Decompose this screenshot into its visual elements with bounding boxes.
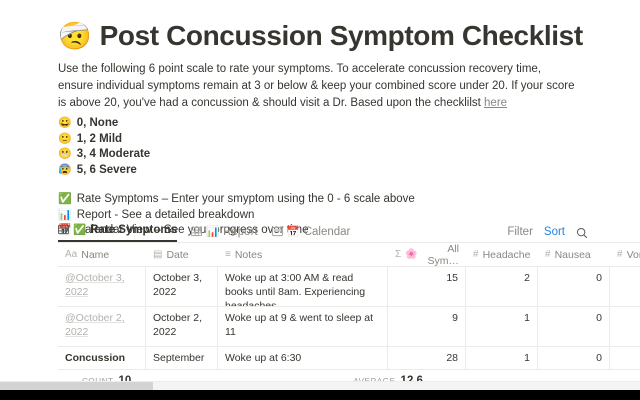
- intro-paragraph: Use the following 6 point scale to rate …: [58, 61, 618, 112]
- cell-headache[interactable]: 1: [466, 347, 538, 370]
- scale-item: 🙂 1, 2 Mild: [58, 132, 640, 148]
- column-header-vomiting[interactable]: # Vomi: [610, 243, 640, 267]
- cell-nausea[interactable]: 0: [538, 267, 610, 307]
- column-header-label: Name: [81, 249, 109, 261]
- cell-nausea[interactable]: 0: [538, 347, 610, 370]
- text-type-icon: ≡: [225, 249, 231, 260]
- search-icon[interactable]: [576, 226, 588, 238]
- cell-vomiting[interactable]: [610, 267, 640, 307]
- number-type-icon: #: [473, 249, 479, 260]
- scale-item: 😰 5, 6 Severe: [58, 163, 640, 179]
- database-toolbar: ✅ Rate Symptoms 📊 Report 📅 Calendar: [58, 218, 640, 242]
- cell-notes[interactable]: Woke up at 6:30: [218, 347, 388, 370]
- rollup-sigma-icon: Σ: [395, 249, 401, 260]
- horizontal-scrollbar[interactable]: [0, 381, 640, 390]
- filter-button[interactable]: Filter: [507, 226, 533, 238]
- column-header-all-symptoms[interactable]: Σ 🌸 All Sym…: [388, 243, 466, 267]
- cell-all-symptoms[interactable]: 28: [388, 347, 466, 370]
- column-header-notes[interactable]: ≡ Notes: [218, 243, 388, 267]
- window-bottom-bar: [0, 390, 640, 400]
- number-type-icon: #: [617, 249, 623, 260]
- cell-headache[interactable]: 1: [466, 307, 538, 347]
- column-header-date[interactable]: ▤ Date: [146, 243, 218, 267]
- column-header-label: Date: [166, 249, 188, 261]
- page-reference-link[interactable]: @October 2, 2022: [65, 312, 125, 338]
- page-reference-link[interactable]: @October 3, 2022: [65, 272, 125, 298]
- tab-rate-symptoms[interactable]: ✅ Rate Symptoms: [58, 223, 177, 242]
- column-header-headache[interactable]: # Headache: [466, 243, 538, 267]
- tab-report[interactable]: 📊 Report: [191, 225, 258, 242]
- cell-name[interactable]: @October 3, 2022: [58, 267, 146, 307]
- bar-chart-icon: 📊: [206, 225, 219, 238]
- column-header-label: Notes: [235, 249, 262, 261]
- cell-vomiting[interactable]: [610, 307, 640, 347]
- tab-calendar[interactable]: 📅 Calendar: [272, 225, 351, 242]
- cell-vomiting[interactable]: [610, 347, 640, 370]
- rating-scale-list: 😀 0, None 🙂 1, 2 Mild 😬 3, 4 Moderate 😰 …: [58, 116, 640, 178]
- link-item-rate-symptoms[interactable]: ✅ Rate Symptoms – Enter your smyptom usi…: [58, 192, 640, 208]
- here-link[interactable]: here: [484, 97, 507, 109]
- cell-name[interactable]: Concussion: [58, 347, 146, 370]
- table-view-icon: [191, 226, 202, 237]
- cell-headache[interactable]: 2: [466, 267, 538, 307]
- check-mark-icon: ✅: [73, 223, 86, 236]
- column-header-label: All Sym…: [422, 243, 459, 267]
- database-table: Aa Name ▤ Date ≡ Notes Σ 🌸 All Sym… #: [58, 242, 640, 392]
- number-type-icon: #: [545, 249, 551, 260]
- tab-label: Report: [223, 226, 258, 238]
- column-header-name[interactable]: Aa Name: [58, 243, 146, 267]
- face-mild-icon: 🙂: [58, 132, 72, 148]
- scale-item-label: 3, 4 Moderate: [77, 147, 151, 163]
- page-root: 🤕 Post Concussion Symptom Checklist Use …: [0, 0, 640, 400]
- column-header-nausea[interactable]: # Nausea: [538, 243, 610, 267]
- table-row[interactable]: @October 2, 2022 October 2, 2022 Woke up…: [58, 307, 640, 347]
- table-view-icon: [58, 224, 69, 235]
- view-tabs: ✅ Rate Symptoms 📊 Report 📅 Calendar: [58, 218, 350, 242]
- scale-item-label: 0, None: [77, 116, 119, 132]
- link-item-label: Rate Symptoms – Enter your smyptom using…: [77, 192, 415, 208]
- cell-all-symptoms[interactable]: 15: [388, 267, 466, 307]
- page-title[interactable]: Post Concussion Symptom Checklist: [100, 20, 583, 52]
- table-row[interactable]: @October 3, 2022 October 3, 2022 Woke up…: [58, 267, 640, 307]
- document-header: 🤕 Post Concussion Symptom Checklist Use …: [0, 0, 640, 239]
- title-type-icon: Aa: [65, 249, 77, 260]
- table-row[interactable]: Concussion September Woke up at 6:30 28 …: [58, 347, 640, 370]
- database-block: ✅ Rate Symptoms 📊 Report 📅 Calendar: [58, 218, 640, 392]
- face-neutral-icon: 😀: [58, 116, 72, 132]
- tab-label: Rate Symptoms: [90, 224, 177, 236]
- cell-date[interactable]: October 3, 2022: [146, 267, 218, 307]
- calendar-icon: 📅: [287, 225, 300, 238]
- sort-button[interactable]: Sort: [544, 226, 565, 238]
- cell-date[interactable]: October 2, 2022: [146, 307, 218, 347]
- board-view-icon: [272, 226, 283, 237]
- column-header-label: Headache: [483, 249, 531, 261]
- flower-icon: 🌸: [405, 249, 417, 260]
- head-bandage-icon[interactable]: 🤕: [58, 23, 92, 50]
- cell-nausea[interactable]: 0: [538, 307, 610, 347]
- cell-all-symptoms[interactable]: 9: [388, 307, 466, 347]
- check-mark-icon: ✅: [58, 192, 72, 208]
- tab-label: Calendar: [304, 226, 351, 238]
- column-header-label: Vomi: [627, 249, 640, 261]
- page-title-cell[interactable]: Concussion: [65, 352, 125, 364]
- toolbar-actions: Filter Sort: [507, 226, 588, 238]
- face-moderate-icon: 😬: [58, 147, 72, 163]
- scale-item: 😬 3, 4 Moderate: [58, 147, 640, 163]
- scale-item: 😀 0, None: [58, 116, 640, 132]
- date-type-icon: ▤: [153, 249, 162, 260]
- scale-item-label: 1, 2 Mild: [77, 132, 122, 148]
- cell-notes[interactable]: Woke up at 9 & went to sleep at 11: [218, 307, 388, 347]
- table-header-row: Aa Name ▤ Date ≡ Notes Σ 🌸 All Sym… #: [58, 243, 640, 267]
- cell-name[interactable]: @October 2, 2022: [58, 307, 146, 347]
- scale-item-label: 5, 6 Severe: [77, 163, 137, 179]
- page-title-row: 🤕 Post Concussion Symptom Checklist: [58, 20, 640, 52]
- cell-notes[interactable]: Woke up at 3:00 AM & read books until 8a…: [218, 267, 388, 307]
- cell-date[interactable]: September: [146, 347, 218, 370]
- face-severe-icon: 😰: [58, 163, 72, 179]
- column-header-label: Nausea: [555, 249, 591, 261]
